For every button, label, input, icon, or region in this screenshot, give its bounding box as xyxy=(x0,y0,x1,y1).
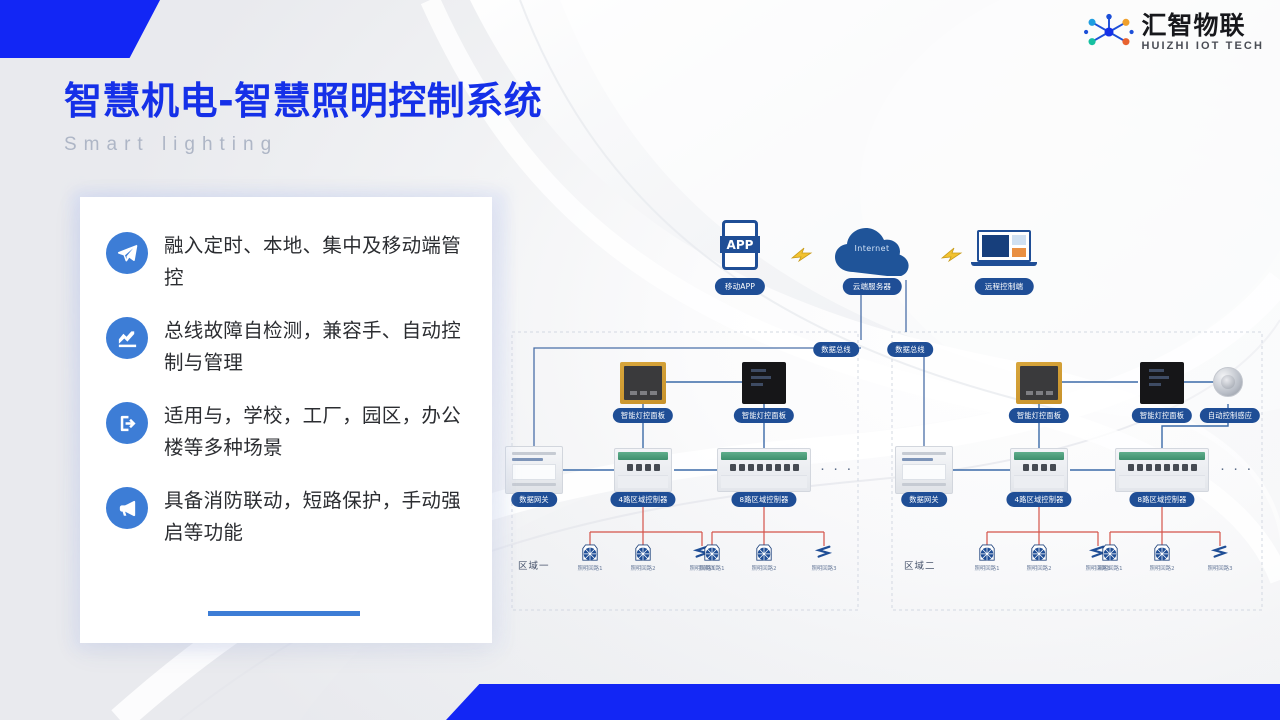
export-arrow-icon xyxy=(106,402,148,444)
feature-text: 适用与，学校，工厂，园区，办公楼等多种场景 xyxy=(164,400,466,463)
circuit-label: 照明回路2 xyxy=(752,564,777,572)
feature-text: 总线故障自检测，兼容手、自动控制与管理 xyxy=(164,315,466,378)
lighting-system-diagram: APP 移动APP Internet 云端服务器 远程控制端 数据总线 数据总线… xyxy=(506,214,1268,614)
node-label-auto-sensor[interactable]: 自动控制感应 xyxy=(1200,408,1260,423)
node-label-mobile-app[interactable]: 移动APP xyxy=(715,278,765,295)
light-panel-black-icon xyxy=(1140,362,1184,404)
ceiling-lamp-icon xyxy=(1029,544,1049,562)
app-label: APP xyxy=(720,236,760,253)
brand-name-en: HUIZHI IOT TECH xyxy=(1141,41,1264,52)
gateway-device-icon xyxy=(505,446,563,494)
feature-item: 融入定时、本地、集中及移动端管控 xyxy=(106,230,466,293)
node-label-controller-4[interactable]: 4路区域控制器 xyxy=(610,492,675,507)
circuit-label: 照明回路3 xyxy=(1208,564,1233,572)
circuit-label: 照明回路2 xyxy=(631,564,656,572)
feature-text: 具备消防联动，短路保护，手动强启等功能 xyxy=(164,485,466,548)
zone-controller-8-icon xyxy=(1115,448,1209,492)
circuit-label: 照明回路2 xyxy=(1027,564,1052,572)
light-panel-gold-icon xyxy=(1016,362,1062,404)
node-label-controller-8[interactable]: 8路区域控制器 xyxy=(1129,492,1194,507)
motion-sensor-icon xyxy=(1213,367,1243,397)
page-subtitle: Smart lighting xyxy=(64,134,542,156)
feature-text: 融入定时、本地、集中及移动端管控 xyxy=(164,230,466,293)
chart-line-icon xyxy=(106,317,148,359)
ceiling-lamp-icon xyxy=(1100,544,1120,562)
tube-lamp-icon xyxy=(814,544,834,562)
light-panel-black-icon xyxy=(742,362,786,404)
page-heading: 智慧机电-智慧照明控制系统 Smart lighting xyxy=(64,70,542,156)
feature-item: 具备消防联动，短路保护，手动强启等功能 xyxy=(106,485,466,548)
zone-controller-4-icon xyxy=(614,448,672,492)
megaphone-icon xyxy=(106,487,148,529)
mobile-phone-icon: APP xyxy=(722,220,758,270)
node-label-remote-terminal[interactable]: 远程控制端 xyxy=(975,278,1034,295)
bottom-accent-bar xyxy=(446,684,1280,720)
more-indicator: · · · xyxy=(1220,460,1253,477)
send-paper-plane-icon xyxy=(106,232,148,274)
node-label-gateway[interactable]: 数据网关 xyxy=(511,492,557,507)
bus-label-left[interactable]: 数据总线 xyxy=(813,342,859,357)
feature-item: 适用与，学校，工厂，园区，办公楼等多种场景 xyxy=(106,400,466,463)
node-label-gateway[interactable]: 数据网关 xyxy=(901,492,947,507)
node-label-controller-8[interactable]: 8路区域控制器 xyxy=(731,492,796,507)
circuit-label: 照明回路2 xyxy=(1150,564,1175,572)
zone-controller-8-icon xyxy=(717,448,811,492)
gateway-device-icon xyxy=(895,446,953,494)
circuit-label: 照明回路1 xyxy=(578,564,603,572)
circuit-label: 照明回路1 xyxy=(975,564,1000,572)
light-panel-gold-icon xyxy=(620,362,666,404)
feature-item: 总线故障自检测，兼容手、自动控制与管理 xyxy=(106,315,466,378)
ceiling-lamp-icon xyxy=(977,544,997,562)
cloud-internet-label: Internet xyxy=(833,244,911,253)
node-label-light-panel[interactable]: 智能灯控面板 xyxy=(1132,408,1192,423)
laptop-icon xyxy=(977,230,1031,268)
brand-name-cn: 汇智物联 xyxy=(1141,13,1264,38)
bus-label-right[interactable]: 数据总线 xyxy=(887,342,933,357)
wireless-bolt-icon xyxy=(788,246,818,262)
molecule-network-icon xyxy=(1084,12,1134,52)
brand-logo: 汇智物联 HUIZHI IOT TECH xyxy=(1084,12,1264,52)
cloud-icon: Internet xyxy=(833,224,911,276)
wireless-bolt-icon xyxy=(938,246,968,262)
node-label-cloud-server[interactable]: 云端服务器 xyxy=(843,278,902,295)
ceiling-lamp-icon xyxy=(754,544,774,562)
feature-card: 融入定时、本地、集中及移动端管控 总线故障自检测，兼容手、自动控制与管理 适用与… xyxy=(80,197,492,643)
more-indicator: · · · xyxy=(820,460,853,477)
page-title: 智慧机电-智慧照明控制系统 xyxy=(64,70,542,125)
tube-lamp-icon xyxy=(1210,544,1230,562)
circuit-label: 照明回路1 xyxy=(1098,564,1123,572)
ceiling-lamp-icon xyxy=(580,544,600,562)
card-accent-underline xyxy=(208,611,360,616)
node-label-light-panel[interactable]: 智能灯控面板 xyxy=(613,408,673,423)
node-label-light-panel[interactable]: 智能灯控面板 xyxy=(734,408,794,423)
ceiling-lamp-icon xyxy=(1152,544,1172,562)
ceiling-lamp-icon xyxy=(702,544,722,562)
zone-controller-4-icon xyxy=(1010,448,1068,492)
zone-label-two: 区域二 xyxy=(904,558,936,572)
circuit-label: 照明回路3 xyxy=(812,564,837,572)
zone-label-one: 区域一 xyxy=(518,558,550,572)
ceiling-lamp-icon xyxy=(633,544,653,562)
node-label-light-panel[interactable]: 智能灯控面板 xyxy=(1009,408,1069,423)
node-label-controller-4[interactable]: 4路区域控制器 xyxy=(1006,492,1071,507)
circuit-label: 照明回路1 xyxy=(700,564,725,572)
